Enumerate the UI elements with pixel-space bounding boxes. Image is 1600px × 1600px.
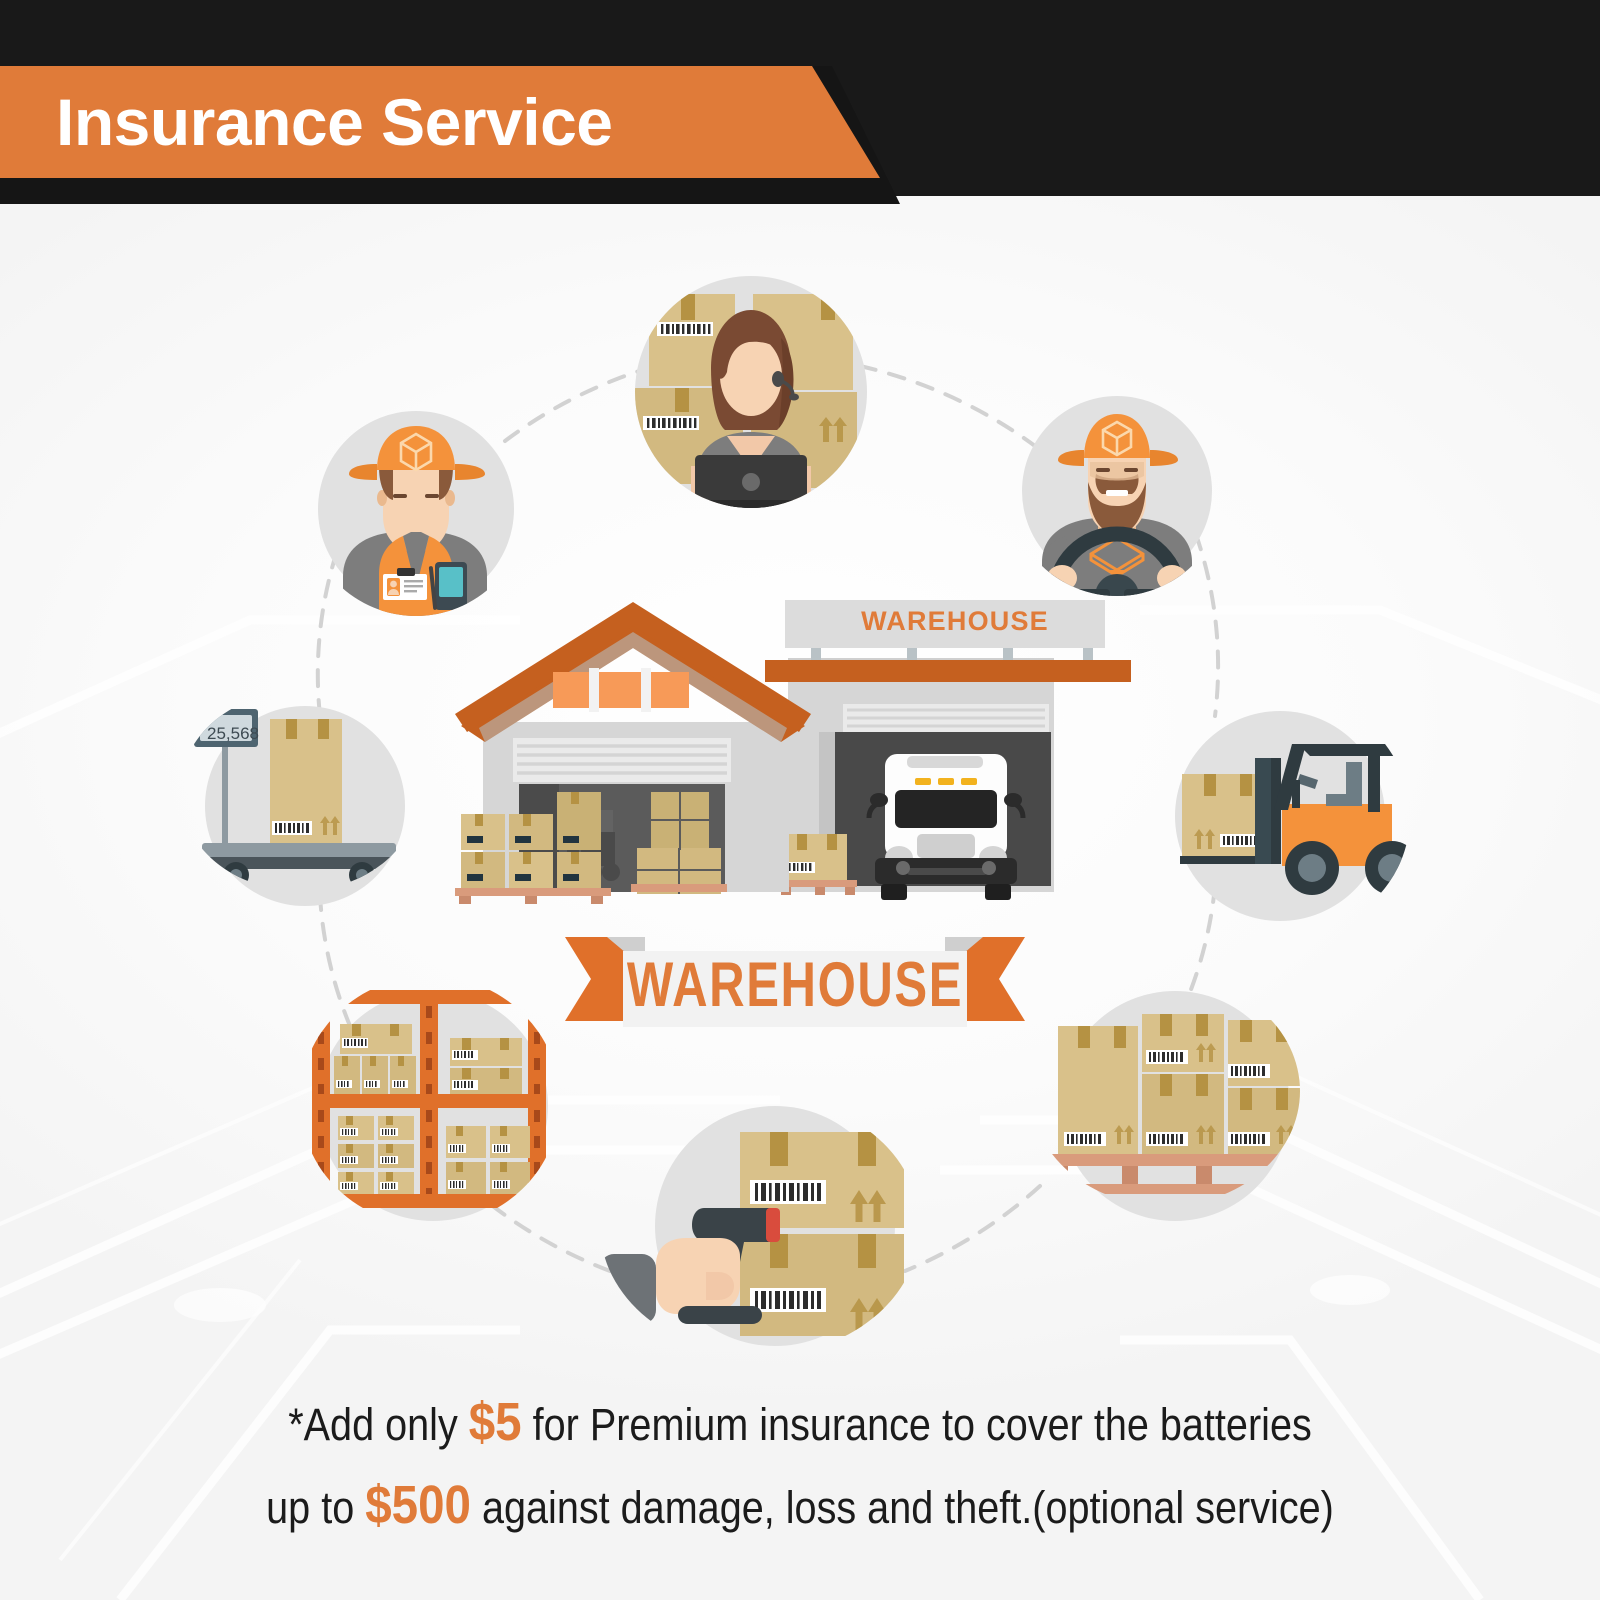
connector-pallet-scanner [905,1186,1040,1271]
caption-line1-post: for Premium insurance to cover the batte… [522,1399,1312,1450]
footer-caption: *Add only $5 for Premium insurance to co… [0,1382,1600,1548]
building-sign-label: WAREHOUSE [835,606,1075,637]
node-forklift[interactable] [1160,696,1410,936]
node-operator[interactable] [635,276,867,508]
caption-line2-post: against damage, loss and theft.(optional… [471,1482,1334,1533]
node-rack[interactable] [300,976,560,1226]
caption-amount-500: $500 [365,1475,471,1535]
node-worker[interactable] [305,394,527,616]
weighing-scale-icon [180,691,420,891]
caption-line-1: *Add only $5 for Premium insurance to co… [96,1382,1504,1465]
caption-amount-5: $5 [469,1392,522,1452]
call-center-operator-icon [635,276,867,508]
warehouse-building [455,596,1135,906]
connector-worker-operator [505,366,655,441]
palletized-cartons-icon [1030,976,1300,1206]
warehouse-building-icon [455,596,1135,906]
warehouse-worker-icon [305,394,527,616]
truck-driver-icon [1010,386,1224,596]
node-pallet[interactable] [1030,976,1300,1206]
connector-scanner-rack [480,1196,610,1271]
scale-reading: 25,568 [203,724,263,744]
forklift-icon [1160,696,1410,936]
caption-line1-pre: *Add only [288,1399,469,1450]
caption-line2-pre: up to [266,1482,365,1533]
caption-line-2: up to $500 against damage, loss and thef… [96,1465,1504,1548]
node-scale[interactable] [180,691,420,891]
node-scanner[interactable] [600,1096,920,1356]
ribbon-label: WAREHOUSE [608,949,982,1021]
infographic-stage: 25,568 [0,196,1600,1356]
connector-operator-driver [860,366,1035,446]
page-title: Insurance Service [56,78,613,166]
node-driver[interactable] [1010,386,1224,596]
storage-rack-icon [300,976,560,1226]
barcode-scanner-icon [600,1096,920,1356]
